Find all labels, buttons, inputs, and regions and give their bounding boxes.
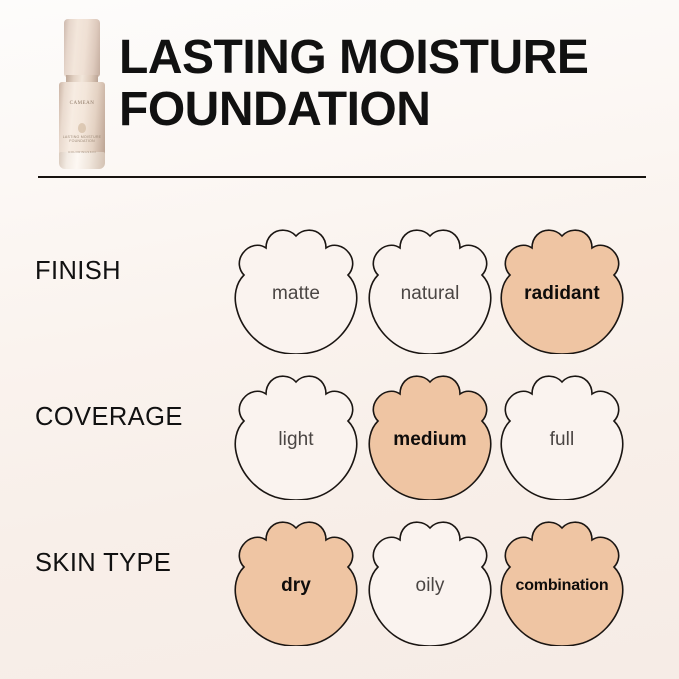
bottle-emblem-icon [78,123,86,133]
comparison-grid: FINISH matte natural [0,186,679,679]
petal-shape [369,376,491,500]
petal-shape [235,230,357,354]
page-title-line-1: LASTING MOISTURE [119,32,664,84]
petal-shape [235,522,357,646]
petal-shape [501,522,623,646]
petal-shape [501,376,623,500]
option-petal-radidant[interactable]: radidant [498,228,626,354]
petal-shape [369,522,491,646]
header-divider [38,176,646,178]
option-petal-medium[interactable]: medium [366,374,494,500]
product-bottle-image: CAMEAN LASTING MOISTURE FOUNDATION COLOR… [57,19,107,174]
grid-row-coverage: COVERAGE light medium [0,352,679,500]
page-title-line-2: FOUNDATION [119,84,664,136]
option-petal-combination[interactable]: combination [498,520,626,646]
petal-group-coverage: light medium full [232,352,642,500]
bottle-sublabel-text: COLORINGSKIN [57,150,107,154]
petal-group-skin-type: dry oily combination [232,498,642,646]
product-infographic: CAMEAN LASTING MOISTURE FOUNDATION COLOR… [0,0,679,679]
option-petal-oily[interactable]: oily [366,520,494,646]
row-label-coverage: COVERAGE [35,402,240,432]
row-label-finish: FINISH [35,256,240,286]
bottle-label-text: LASTING MOISTURE FOUNDATION [57,135,107,144]
row-label-skin-type: SKIN TYPE [35,548,240,578]
bottle-cap [64,19,100,77]
option-petal-dry[interactable]: dry [232,520,360,646]
petal-shape [501,230,623,354]
petal-shape [369,230,491,354]
header-section: CAMEAN LASTING MOISTURE FOUNDATION COLOR… [0,0,679,178]
option-petal-light[interactable]: light [232,374,360,500]
bottle-brand-text: CAMEAN [57,101,107,106]
petal-shape [235,376,357,500]
grid-row-skin-type: SKIN TYPE dry oily [0,498,679,646]
option-petal-full[interactable]: full [498,374,626,500]
petal-group-finish: matte natural radidant [232,206,642,354]
page-title: LASTING MOISTURE FOUNDATION [119,32,664,136]
option-petal-matte[interactable]: matte [232,228,360,354]
option-petal-natural[interactable]: natural [366,228,494,354]
bottle-base [59,152,105,169]
grid-row-finish: FINISH matte natural [0,206,679,354]
